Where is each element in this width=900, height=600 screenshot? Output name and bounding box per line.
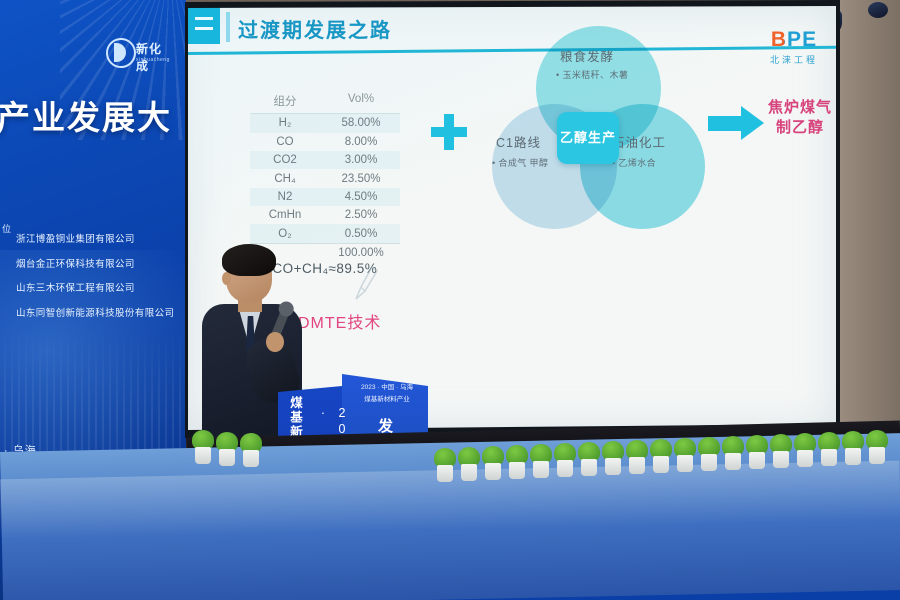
right-arrow-icon [708,106,764,140]
table-row: CH₄ 23.50% [250,169,400,187]
cell-value: 2.50% [328,209,394,221]
table-row: N2 4.50% [250,188,400,206]
sponsor-item: 山东三木环保工程有限公司 [16,277,186,302]
banner-sponsor-list: 浙江博盈铜业集团有限公司 烟台金正环保科技有限公司 山东三木环保工程有限公司 山… [16,228,186,327]
venn-label-top: 粮食发酵 [560,46,614,65]
table-row: H₂ 58.00% [250,114,400,132]
venn-label-left: C1路线 [496,132,541,151]
sponsor-item: 山东同智创新能源科技股份有限公司 [16,302,186,327]
table-row: CO2 3.00% [250,151,400,169]
dmte-label: DMTE技术 [298,309,381,333]
gas-composition-table: 组分 Vol% H₂ 58.00% CO 8.00% CO2 3.00% CH₄… [250,90,400,262]
venn-center-label: 乙醇生产 [557,112,619,164]
menu-lines-icon [188,6,220,44]
cell-component: CO2 [256,154,314,166]
slide-title: 过渡期发展之路 [238,14,392,43]
venn-label-right: 石油化工 [612,132,666,151]
plus-icon [431,114,467,150]
cell-value: 0.50% [328,228,394,240]
cell-value: 23.50% [328,173,394,185]
venn-bullet-left: • 合成气 甲醇 [492,156,548,169]
bpe-logo: BPE 北涞工程 [770,28,818,66]
sponsor-item: 浙江博盈铜业集团有限公司 [16,228,186,253]
cell-value: 4.50% [328,191,394,203]
result-label: 焦炉煤气制乙醇 [768,98,832,139]
sponsor-item: 烟台金正环保科技有限公司 [16,253,186,278]
bpe-logo-sub: 北涞工程 [770,53,818,66]
cell-component: CH₄ [256,173,314,185]
speaker-hair [222,244,276,276]
bpe-logo-text: BPE [770,28,818,52]
cell-component: O₂ [256,228,314,240]
table-row: CmHn 2.50% [250,206,400,224]
banner-title: 料产业发展大会 [0,98,186,179]
cell-component: CmHn [256,209,314,221]
cell-component: H₂ [256,117,314,129]
cell-component: N2 [256,191,314,203]
podium-top-text: 2023 · 中国 · 乌海煤基新材料产业 [350,382,424,405]
venn-diagram: 粮食发酵 • 玉米秸秆、木薯 C1路线 • 合成气 甲醇 石油化工 • 乙烯水合… [484,24,714,254]
speaker-ear [222,272,231,285]
col-header-vol: Vol% [328,93,394,109]
table-row: CO 8.00% [250,133,400,151]
right-wall [840,0,900,470]
cell-component: CO [256,136,314,148]
banner-logo-sub: xinhuacheng [136,57,170,63]
col-header-component: 组分 [256,93,314,109]
banner-logo-mark [106,38,136,68]
table-row: O₂ 0.50% [250,224,400,242]
cell-value: 3.00% [328,154,394,166]
banner-logo: 新化成 xinhuacheng [106,38,168,82]
title-accent-bar [226,12,230,42]
cell-total-value: 100.00% [328,247,394,259]
cell-value: 58.00% [328,117,394,129]
speaker-hand [266,332,284,352]
venn-bullet-top: • 玉米秸秆、木薯 [556,68,628,81]
table-header-row: 组分 Vol% [250,90,400,114]
pen-icon [350,261,380,303]
venn-bullet-right: • 乙烯水合 [612,156,656,169]
cell-value: 8.00% [328,136,394,148]
conference-photo: 新化成 xinhuacheng 料产业发展大会 位 浙江博盈铜业集团有限公司 烟… [0,0,900,600]
banner-org-label: 位 [2,222,11,235]
